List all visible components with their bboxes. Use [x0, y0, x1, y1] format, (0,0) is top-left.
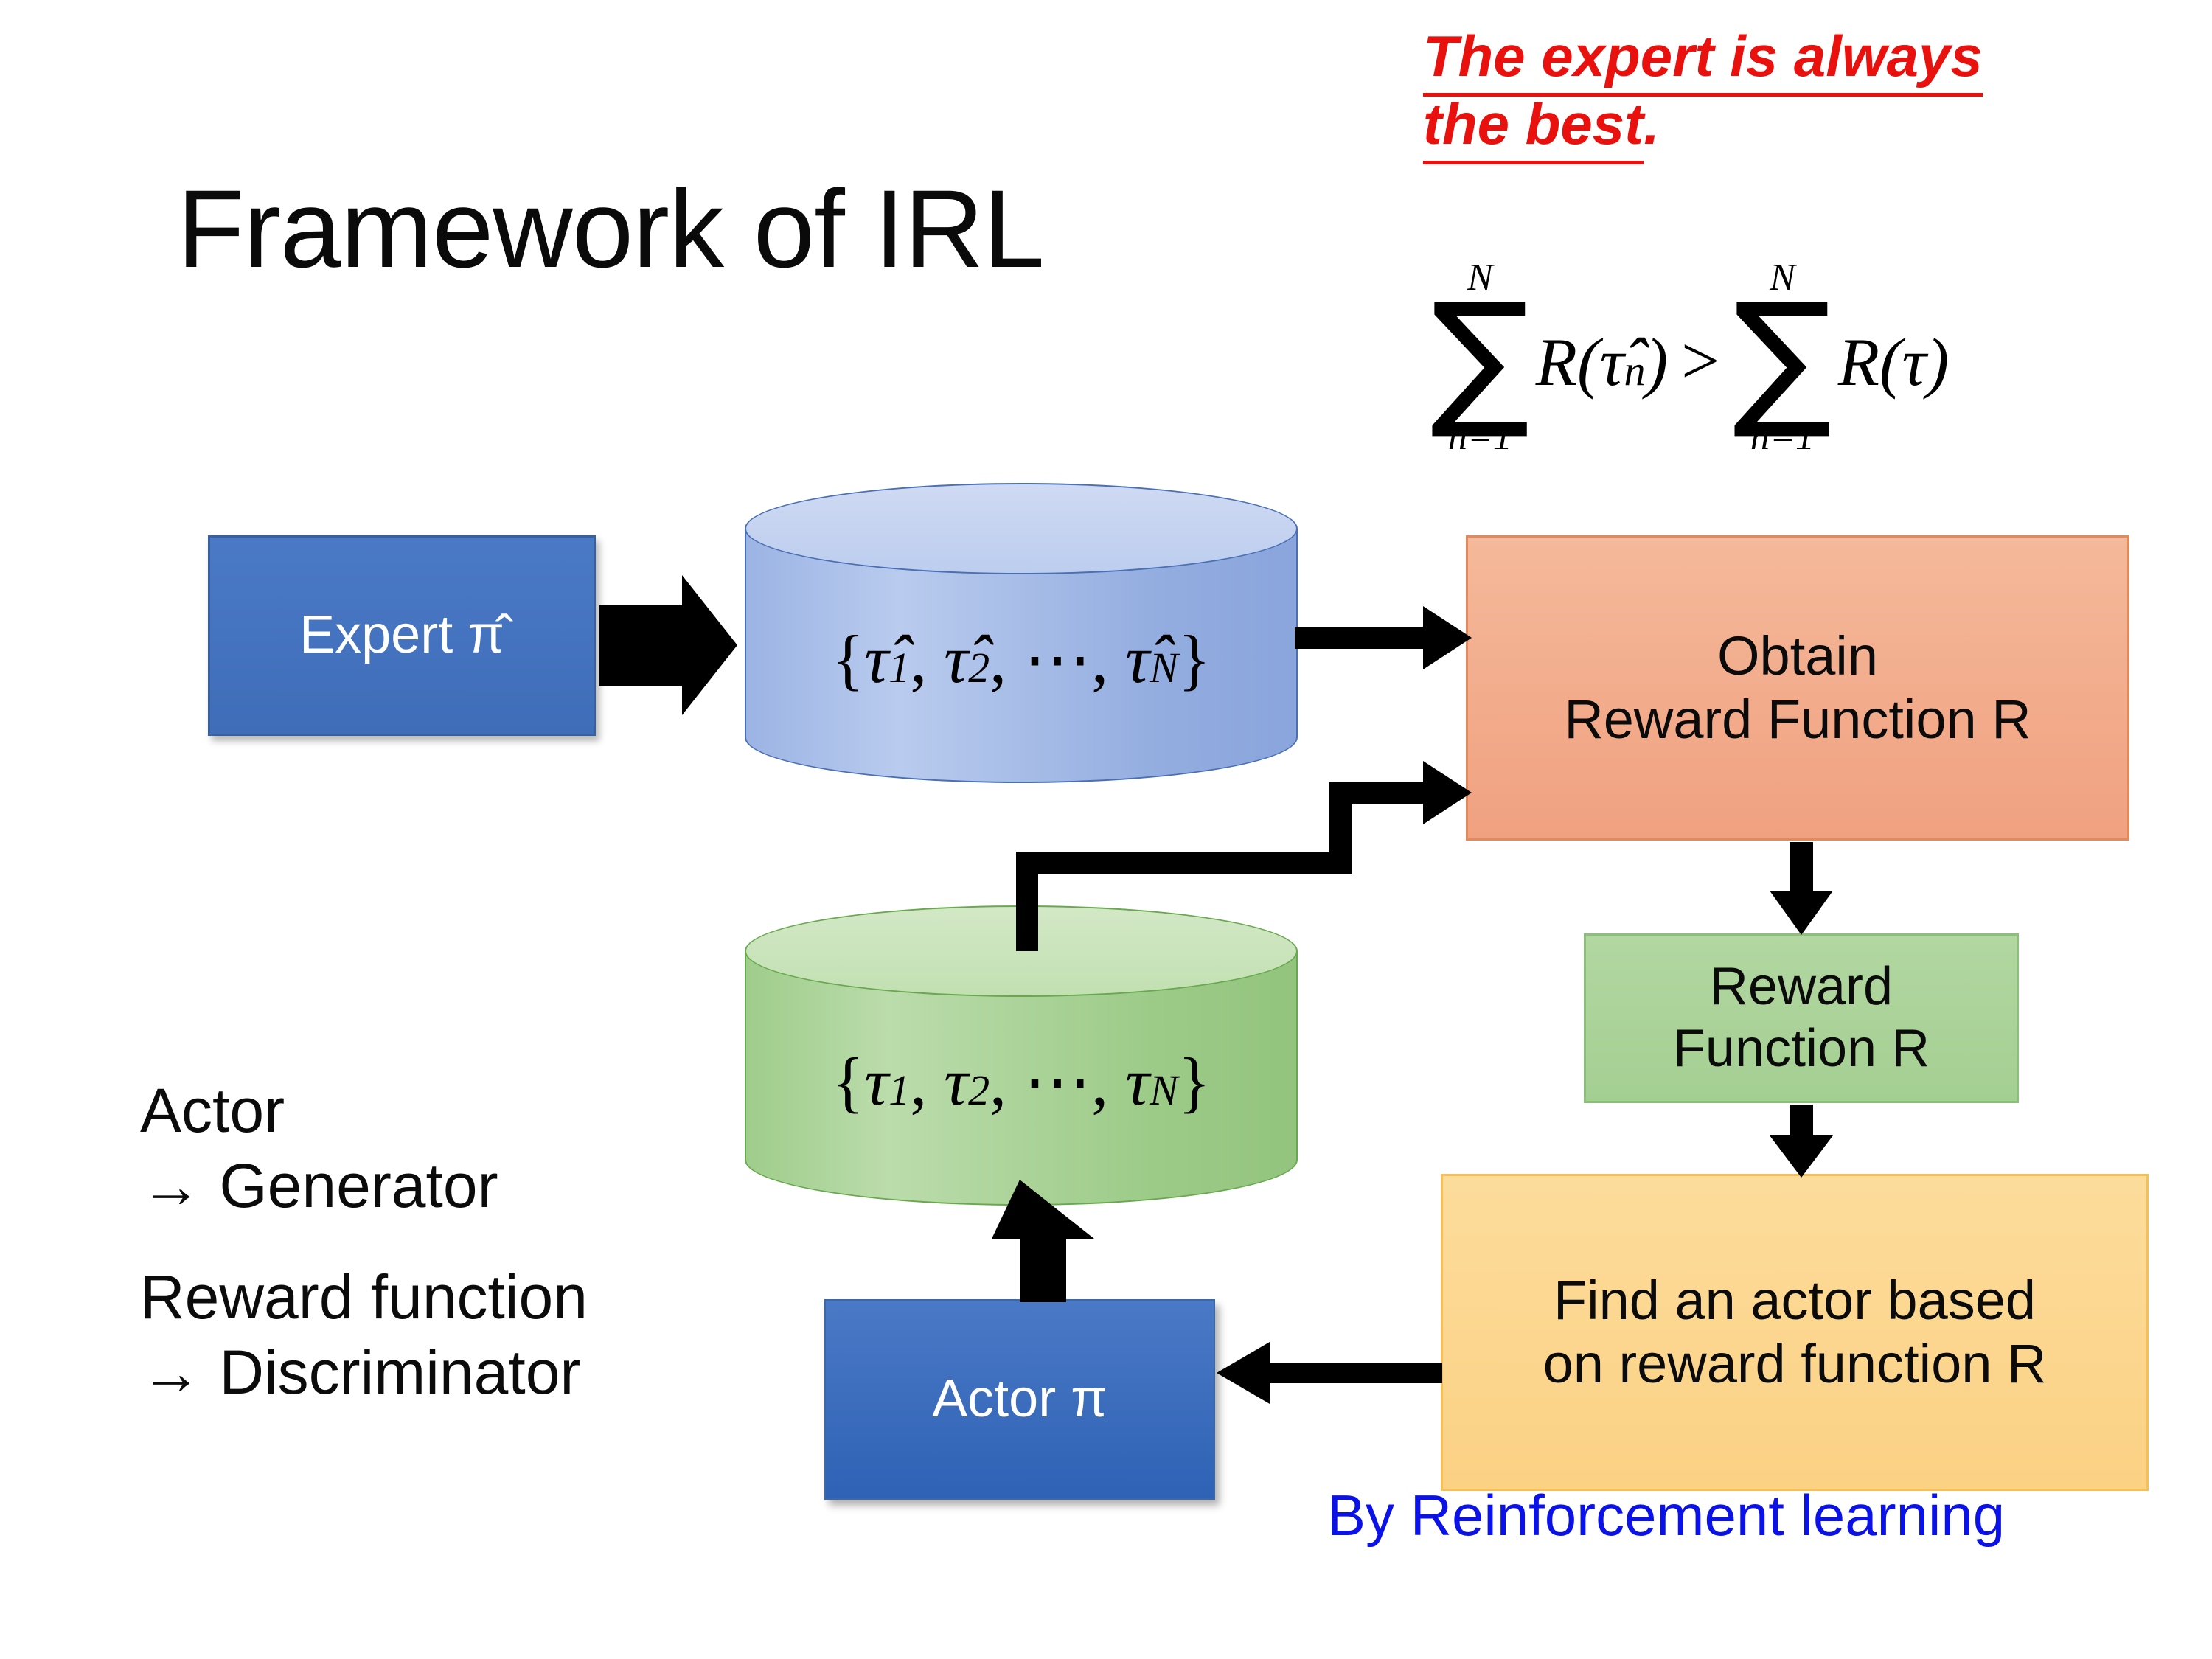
arrow-obtain-to-reward-icon [1770, 842, 1833, 935]
tau-hat-n: τ̂ [1125, 622, 1150, 697]
tau-2-sub: 2 [968, 1066, 990, 1114]
tau-hat-2-sub: 2 [968, 644, 990, 692]
agent-trajectories-label: {τ1, τ2, ⋯, τN} [745, 1042, 1298, 1121]
summation-2: N ∑ n=1 [1733, 259, 1832, 456]
sigma-icon: ∑ [1733, 297, 1832, 418]
summation-1-lower-limit: n=1 [1448, 418, 1512, 456]
expert-trajectories-label: {τ̂1, τ̂2, ⋯, τ̂N} [745, 619, 1298, 698]
page-title: Framework of IRL [177, 173, 1044, 284]
greater-than-sign: > [1674, 321, 1727, 400]
note-actor-line-2: → Generator [140, 1148, 877, 1223]
callout-line-1-text: The expert is always [1423, 24, 1983, 97]
cylinder-top-ellipse [745, 905, 1298, 997]
callout-line-2-text: the best [1423, 91, 1644, 164]
rfun-1-close: ) [1646, 324, 1669, 400]
reward-of-expert-trajectory: R(τ̂n) [1536, 323, 1668, 401]
summation-1: N ∑ n=1 [1430, 259, 1530, 456]
brace-open: { [832, 622, 864, 697]
expert-callout: The expert is always the best. [1423, 22, 2131, 158]
cylinder-top-ellipse [745, 483, 1298, 574]
note-reward-line-1: Reward function [140, 1259, 877, 1335]
obtain-reward-function-box[interactable]: Obtain Reward Function R [1466, 535, 2129, 841]
ellipsis-icon: ⋯ [1023, 1044, 1091, 1119]
rfun-1-subscript: n [1624, 347, 1646, 394]
reward-function-box[interactable]: Reward Function R [1584, 933, 2019, 1103]
callout-line-1: The expert is always [1423, 22, 2131, 90]
sigma-icon: ∑ [1430, 297, 1530, 418]
ellipsis-icon: ⋯ [1023, 622, 1091, 697]
note-reward-block: Reward function → Discriminator [140, 1259, 877, 1411]
arrow-reward-to-find-actor-icon [1770, 1105, 1833, 1178]
reward-of-trajectory: R(τ) [1838, 323, 1949, 401]
arrow-find-actor-to-actor-icon [1217, 1342, 1442, 1404]
tau-1-sub: 1 [888, 1066, 910, 1114]
expert-policy-label: Expert π̂ [299, 605, 504, 667]
reward-inequality-formula: N ∑ n=1 R(τ̂n) > N ∑ n=1 R(τ) [1430, 221, 2190, 494]
arrow-cylinder-to-obtain-icon [1295, 606, 1472, 669]
tau-1: τ [864, 1044, 888, 1119]
brace-open: { [832, 1044, 864, 1119]
tau-hat-2: τ̂ [944, 622, 968, 697]
obtain-line-1: Obtain [1717, 625, 1878, 688]
rfun-1-head: R(τ̂ [1536, 324, 1624, 400]
tau-n-sub: N [1150, 1066, 1178, 1114]
find-actor-line-1: Find an actor based [1554, 1269, 2036, 1332]
tau-hat-1: τ̂ [864, 622, 888, 697]
reinforcement-learning-caption: By Reinforcement learning [1327, 1482, 2005, 1549]
arrow-expert-to-cylinder-icon [599, 575, 737, 715]
expert-policy-box[interactable]: Expert π̂ [208, 535, 596, 736]
tau-n: τ [1125, 1044, 1150, 1119]
reward-line-2: Function R [1673, 1018, 1930, 1080]
tau-hat-n-sub: N [1150, 644, 1178, 692]
note-reward-line-2: → Discriminator [140, 1335, 877, 1410]
brace-close: } [1178, 1044, 1211, 1119]
callout-period: . [1644, 91, 1660, 156]
tau-2: τ [944, 1044, 968, 1119]
callout-line-2: the best. [1423, 90, 2131, 158]
actor-policy-box[interactable]: Actor π [824, 1299, 1215, 1500]
mapping-notes: Actor → Generator Reward function → Disc… [140, 1073, 877, 1411]
brace-close: } [1178, 622, 1211, 697]
obtain-line-2: Reward Function R [1564, 688, 2031, 751]
actor-policy-label: Actor π [932, 1368, 1107, 1430]
find-actor-line-2: on reward function R [1543, 1332, 2047, 1396]
tau-hat-1-sub: 1 [888, 644, 910, 692]
expert-trajectories-cylinder[interactable]: {τ̂1, τ̂2, ⋯, τ̂N} [745, 483, 1298, 807]
find-actor-box[interactable]: Find an actor based on reward function R [1441, 1174, 2149, 1491]
summation-2-lower-limit: n=1 [1750, 418, 1815, 456]
reward-line-1: Reward [1710, 956, 1893, 1018]
